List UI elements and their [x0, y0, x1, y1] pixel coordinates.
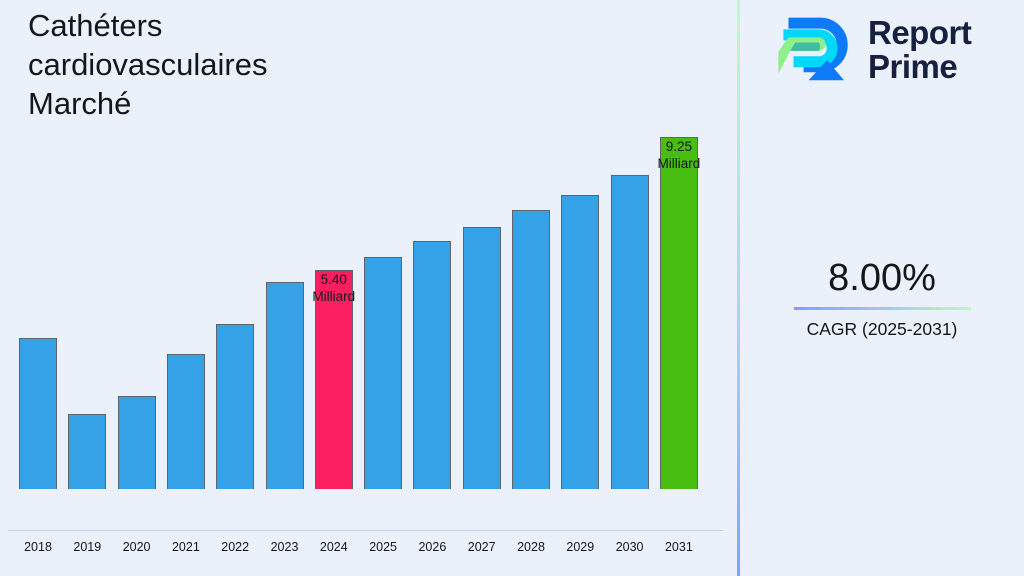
data-label-2031: 9.25 Milliard: [634, 138, 724, 172]
bar-2028: [512, 210, 550, 489]
cagr-block: 8.00% CAGR (2025-2031): [740, 255, 1024, 340]
chart-panel: Cathéters cardiovasculaires Marché 5.40 …: [0, 0, 737, 576]
bar-2023: [266, 282, 304, 489]
bar-2031: [660, 137, 698, 489]
cagr-value: 8.00%: [740, 255, 1024, 301]
bar-2026: [413, 241, 451, 489]
report-prime-logo-icon: [770, 8, 854, 92]
infographic-root: Cathéters cardiovasculaires Marché 5.40 …: [0, 0, 1024, 576]
bar-chart-plot: 5.40 Milliard9.25 Milliard 2018201920202…: [0, 0, 737, 535]
brand-logo: Report Prime: [770, 8, 971, 92]
brand-panel: Report Prime 8.00% CAGR (2025-2031): [740, 0, 1024, 576]
brand-name: Report Prime: [868, 16, 971, 84]
cagr-caption: CAGR (2025-2031): [740, 318, 1024, 340]
bar-2027: [463, 227, 501, 489]
bar-2018: [19, 338, 57, 489]
x-axis-line: [8, 530, 723, 531]
bar-2022: [216, 324, 254, 489]
data-label-2024: 5.40 Milliard: [289, 271, 379, 305]
bar-2029: [561, 195, 599, 489]
x-tick-2031: 2031: [649, 540, 709, 554]
cagr-divider-rule: [794, 307, 971, 310]
bar-2020: [118, 396, 156, 489]
bar-2030: [611, 175, 649, 489]
bar-2021: [167, 354, 205, 489]
bar-2019: [68, 414, 106, 489]
